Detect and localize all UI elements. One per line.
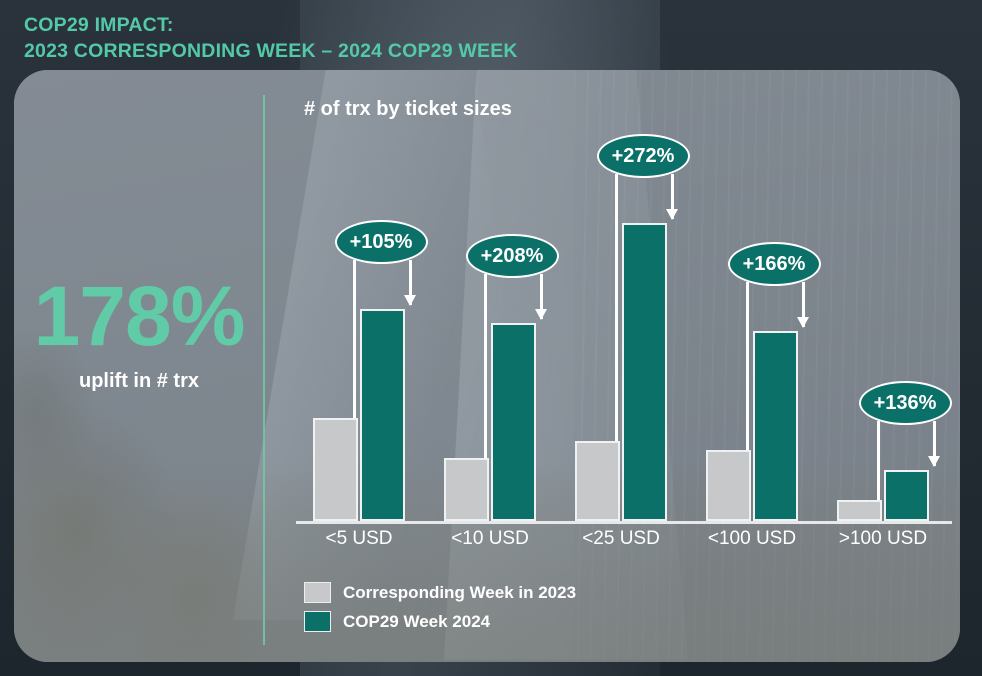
kpi-value: 178% bbox=[14, 270, 264, 362]
x-axis-label-100USD: <100 USD bbox=[688, 528, 816, 550]
growth-badge-5USD: +105% bbox=[335, 220, 428, 264]
bar-2024-5USD bbox=[360, 309, 405, 521]
x-axis-label-5USD: <5 USD bbox=[295, 528, 423, 550]
page-title: COP29 IMPACT: 2023 CORRESPONDING WEEK – … bbox=[24, 12, 518, 64]
badge-stem-5USD bbox=[353, 260, 356, 418]
chart-x-axis-line bbox=[296, 521, 952, 524]
slide-root: COP29 IMPACT: 2023 CORRESPONDING WEEK – … bbox=[0, 0, 982, 676]
x-axis-label-10USD: <10 USD bbox=[426, 528, 554, 550]
vertical-divider bbox=[263, 95, 265, 645]
badge-arrow-100USD bbox=[928, 421, 941, 466]
legend-swatch-gray bbox=[304, 582, 331, 603]
badge-stem-10USD bbox=[484, 274, 487, 458]
bar-2024-100USD bbox=[884, 470, 929, 521]
badge-stem-100USD bbox=[746, 282, 749, 450]
bar-2023-100USD bbox=[706, 450, 751, 521]
chart-title: # of trx by ticket sizes bbox=[304, 98, 512, 121]
x-axis-label-100USD: >100 USD bbox=[819, 528, 947, 550]
x-axis-label-25USD: <25 USD bbox=[557, 528, 685, 550]
bar-2024-100USD bbox=[753, 331, 798, 521]
growth-badge-100USD: +136% bbox=[859, 381, 952, 425]
badge-arrow-100USD bbox=[797, 282, 810, 327]
badge-stem-100USD bbox=[877, 421, 880, 500]
badge-arrow-25USD bbox=[666, 174, 679, 219]
badge-arrow-10USD bbox=[535, 274, 548, 319]
growth-badge-100USD: +166% bbox=[728, 242, 821, 286]
legend-label-2023: Corresponding Week in 2023 bbox=[343, 583, 576, 603]
bar-2024-25USD bbox=[622, 223, 667, 521]
legend-swatch-teal bbox=[304, 611, 331, 632]
bar-2023-25USD bbox=[575, 441, 620, 521]
badge-stem-25USD bbox=[615, 174, 618, 441]
bar-2023-100USD bbox=[837, 500, 882, 521]
growth-badge-25USD: +272% bbox=[597, 134, 690, 178]
kpi-caption: uplift in # trx bbox=[14, 370, 264, 393]
growth-badge-10USD: +208% bbox=[466, 234, 559, 278]
bar-2024-10USD bbox=[491, 323, 536, 521]
chart-legend: Corresponding Week in 2023 COP29 Week 20… bbox=[304, 580, 576, 638]
legend-item-2024: COP29 Week 2024 bbox=[304, 609, 576, 634]
badge-arrow-5USD bbox=[404, 260, 417, 305]
bar-2023-10USD bbox=[444, 458, 489, 521]
legend-label-2024: COP29 Week 2024 bbox=[343, 612, 490, 632]
kpi-block: 178% uplift in # trx bbox=[14, 270, 264, 393]
bar-2023-5USD bbox=[313, 418, 358, 521]
legend-item-2023: Corresponding Week in 2023 bbox=[304, 580, 576, 605]
